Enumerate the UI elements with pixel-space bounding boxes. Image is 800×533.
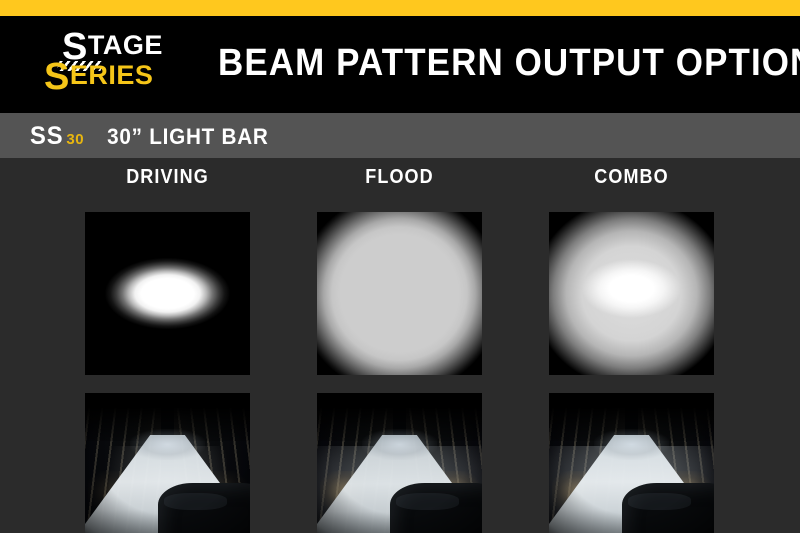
- road-photo-driving: [85, 393, 250, 533]
- photo-vignette: [317, 393, 482, 533]
- logo-stage-rest: TAGE: [88, 30, 163, 60]
- top-accent-strip: [0, 0, 800, 16]
- product-label: 30” LIGHT BAR: [107, 124, 268, 150]
- model-badge: SS: [30, 122, 64, 151]
- logo-text-stage: STAGE: [62, 30, 163, 62]
- column-title-driving: DRIVING: [93, 166, 242, 189]
- stage-series-logo: STAGE SERIES: [32, 30, 192, 102]
- photo-scene: [317, 393, 482, 533]
- product-subtitle-bar: SS30 30” LIGHT BAR: [0, 113, 800, 158]
- logo-series-rest: ERIES: [70, 60, 154, 90]
- model-badge-size: 30: [66, 131, 84, 148]
- photo-scene: [549, 393, 714, 533]
- column-title-combo: COMBO: [557, 166, 706, 189]
- logo-text-series: SERIES: [44, 60, 153, 92]
- beam-pattern-combo: [549, 212, 714, 375]
- photo-scene: [85, 393, 250, 533]
- photo-vignette: [85, 393, 250, 533]
- logo-series-capital: S: [44, 56, 70, 98]
- road-photo-flood: [317, 393, 482, 533]
- header-bar: STAGE SERIES BEAM PATTERN OUTPUT OPTIONS: [0, 16, 800, 113]
- comparison-grid: DRIVING FLOOD: [0, 158, 800, 533]
- beam-pattern-infographic: STAGE SERIES BEAM PATTERN OUTPUT OPTIONS…: [0, 0, 800, 533]
- product-subtitle-inner: SS30 30” LIGHT BAR: [30, 122, 274, 151]
- photo-vignette: [549, 393, 714, 533]
- road-photo-combo: [549, 393, 714, 533]
- column-title-flood: FLOOD: [325, 166, 474, 189]
- beam-pattern-flood: [317, 212, 482, 375]
- page-title: BEAM PATTERN OUTPUT OPTIONS: [218, 42, 800, 85]
- beam-pattern-driving: [85, 212, 250, 375]
